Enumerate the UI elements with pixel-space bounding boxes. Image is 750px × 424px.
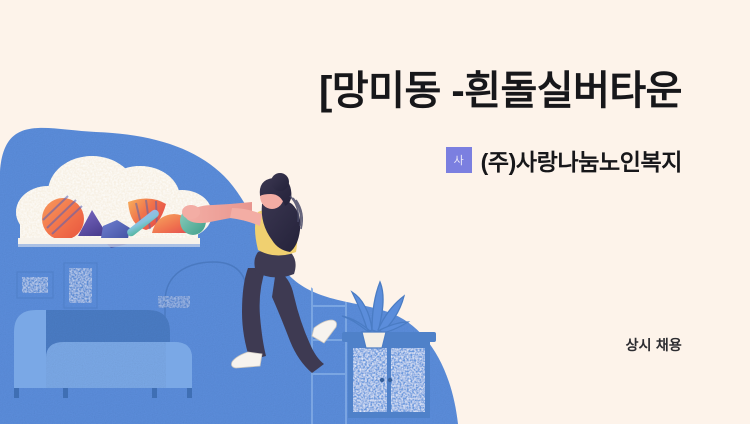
shelf-plank xyxy=(18,238,200,244)
company-row: 사 (주)사랑나눔노인복지 xyxy=(0,143,682,177)
sofa-leg xyxy=(152,388,157,398)
page-title: [망미동 -흰돌실버타운 xyxy=(0,68,682,115)
cabinet-knob xyxy=(380,378,384,382)
company-logo-badge: 사 xyxy=(446,147,472,173)
cabinet-knob xyxy=(388,378,392,382)
scene-illustration xyxy=(0,0,750,424)
company-name: (주)사랑나눔노인복지 xyxy=(481,143,682,177)
hand xyxy=(182,205,200,219)
status-badge: 상시 채용 xyxy=(0,335,682,355)
sofa-leg xyxy=(63,388,68,398)
sofa-leg xyxy=(14,388,19,398)
object-striped-ball xyxy=(42,198,84,240)
cabinet-door-right xyxy=(391,348,425,412)
lamp-glow xyxy=(158,296,190,308)
sofa-leg xyxy=(187,388,192,398)
job-posting-poster: [망미동 -흰돌실버타운 사 (주)사랑나눔노인복지 상시 채용 xyxy=(0,0,750,424)
